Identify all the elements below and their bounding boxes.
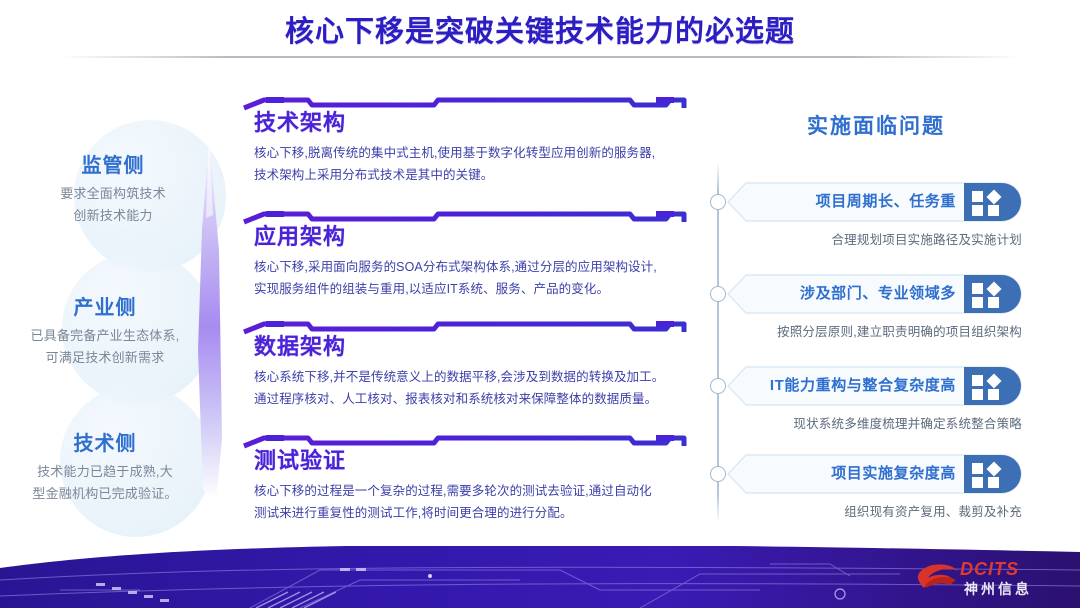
sidebar-item-technology: 技术侧 技术能力已趋于成熟,大 型金融机构已完成验证。 (0, 430, 210, 505)
footer-band: DCITS 神州信息 (0, 546, 1080, 608)
card-line1: 核心下移,脱离传统的集中式主机,使用基于数字化转型应用创新的服务器, (254, 142, 676, 164)
issues-panel: 实施面临问题 项目周期长、任务重 (700, 100, 1052, 540)
grid-diamond-icon (964, 366, 1022, 406)
issue-label: IT能力重构与整合复杂度高 (754, 366, 964, 406)
sidebar-item-line2: 可满足技术创新需求 (0, 347, 210, 369)
issue-subtitle: 合理规划项目实施路径及实施计划 (726, 229, 1022, 248)
card-heading: 技术架构 (254, 108, 676, 138)
logo-chinese-name: 神州信息 (964, 579, 1032, 599)
sidebar-item-industry: 产业侧 已具备完备产业生态体系, 可满足技术创新需求 (0, 294, 210, 369)
timeline-dot (710, 194, 726, 210)
issue-subtitle: 现状系统多维度梳理并确定系统整合策略 (726, 413, 1022, 432)
issue-pill[interactable]: 涉及部门、专业领域多 (726, 274, 1022, 314)
slide-root: 核心下移是突破关键技术能力的必选题 监管侧 要求全面构筑技术 创新技术能力 产业… (0, 0, 1080, 608)
card-content: 测试验证 核心下移的过程是一个复杂的过程,需要多轮次的测试去验证,通过自动化 测… (254, 446, 676, 524)
issues-panel-title: 实施面临问题 (700, 110, 1052, 140)
title-divider (58, 56, 1022, 58)
logo-wordmark: DCITS (960, 559, 1019, 580)
card-line1: 核心下移的过程是一个复杂的过程,需要多轮次的测试去验证,通过自动化 (254, 480, 676, 502)
issue-label: 项目周期长、任务重 (754, 182, 964, 222)
issue-subtitle: 按照分层原则,建立职责明确的项目组织架构 (726, 321, 1022, 340)
page-title: 核心下移是突破关键技术能力的必选题 (0, 8, 1080, 56)
card-line1: 核心系统下移,并不是传统意义上的数据平移,会涉及到数据的转换及加工。 (254, 366, 676, 388)
card-content: 技术架构 核心下移,脱离传统的集中式主机,使用基于数字化转型应用创新的服务器, … (254, 108, 676, 186)
card-heading: 数据架构 (254, 332, 676, 362)
issue-item-2[interactable]: 涉及部门、专业领域多 按照分层原则,建立职责明确的项目组织架构 (726, 274, 1046, 340)
timeline-dot (710, 466, 726, 482)
issue-pill[interactable]: 项目实施复杂度高 (726, 454, 1022, 494)
timeline-dot (710, 286, 726, 302)
grid-diamond-icon (964, 274, 1022, 314)
card-data-architecture[interactable]: 数据架构 核心系统下移,并不是传统意义上的数据平移,会涉及到数据的转换及加工。 … (238, 320, 690, 430)
issue-item-4[interactable]: 项目实施复杂度高 组织现有资产复用、裁剪及补充 (726, 454, 1046, 520)
card-content: 应用架构 核心下移,采用面向服务的SOA分布式架构体系,通过分层的应用架构设计,… (254, 222, 676, 300)
upward-arrow-icon (186, 140, 232, 510)
issue-pill[interactable]: IT能力重构与整合复杂度高 (726, 366, 1022, 406)
issue-item-1[interactable]: 项目周期长、任务重 合理规划项目实施路径及实施计划 (726, 182, 1046, 248)
card-heading: 测试验证 (254, 446, 676, 476)
issue-label: 项目实施复杂度高 (754, 454, 964, 494)
architecture-card-list: 技术架构 核心下移,脱离传统的集中式主机,使用基于数字化转型应用创新的服务器, … (238, 96, 690, 548)
grid-diamond-icon (964, 182, 1022, 222)
card-line2: 技术架构上采用分布式技术是其中的关键。 (254, 164, 676, 186)
issue-item-3[interactable]: IT能力重构与整合复杂度高 现状系统多维度梳理并确定系统整合策略 (726, 366, 1046, 432)
card-line1: 核心下移,采用面向服务的SOA分布式架构体系,通过分层的应用架构设计, (254, 256, 676, 278)
sidebar-item-heading: 技术侧 (0, 430, 210, 458)
card-tech-architecture[interactable]: 技术架构 核心下移,脱离传统的集中式主机,使用基于数字化转型应用创新的服务器, … (238, 96, 690, 206)
card-line2: 通过程序核对、人工核对、报表核对和系统核对来保障整体的数据质量。 (254, 388, 676, 410)
issue-subtitle: 组织现有资产复用、裁剪及补充 (726, 501, 1022, 520)
card-test-verification[interactable]: 测试验证 核心下移的过程是一个复杂的过程,需要多轮次的测试去验证,通过自动化 测… (238, 434, 690, 548)
sidebar-item-line1: 技术能力已趋于成熟,大 (0, 461, 210, 483)
issue-label: 涉及部门、专业领域多 (754, 274, 964, 314)
card-content: 数据架构 核心系统下移,并不是传统意义上的数据平移,会涉及到数据的转换及加工。 … (254, 332, 676, 410)
issue-pill[interactable]: 项目周期长、任务重 (726, 182, 1022, 222)
card-line2: 实现服务组件的组装与重用,以适应IT系统、服务、产品的变化。 (254, 278, 676, 300)
card-heading: 应用架构 (254, 222, 676, 252)
sidebar-item-heading: 产业侧 (0, 294, 210, 322)
card-line2: 测试来进行重复性的测试工作,将时间更合理的进行分配。 (254, 502, 676, 524)
sidebar-item-line1: 已具备完备产业生态体系, (0, 325, 210, 347)
grid-diamond-icon (964, 454, 1022, 494)
card-app-architecture[interactable]: 应用架构 核心下移,采用面向服务的SOA分布式架构体系,通过分层的应用架构设计,… (238, 210, 690, 316)
timeline-dot (710, 378, 726, 394)
sidebar-item-line2: 型金融机构已完成验证。 (0, 483, 210, 505)
company-logo: DCITS 神州信息 (914, 558, 1064, 600)
